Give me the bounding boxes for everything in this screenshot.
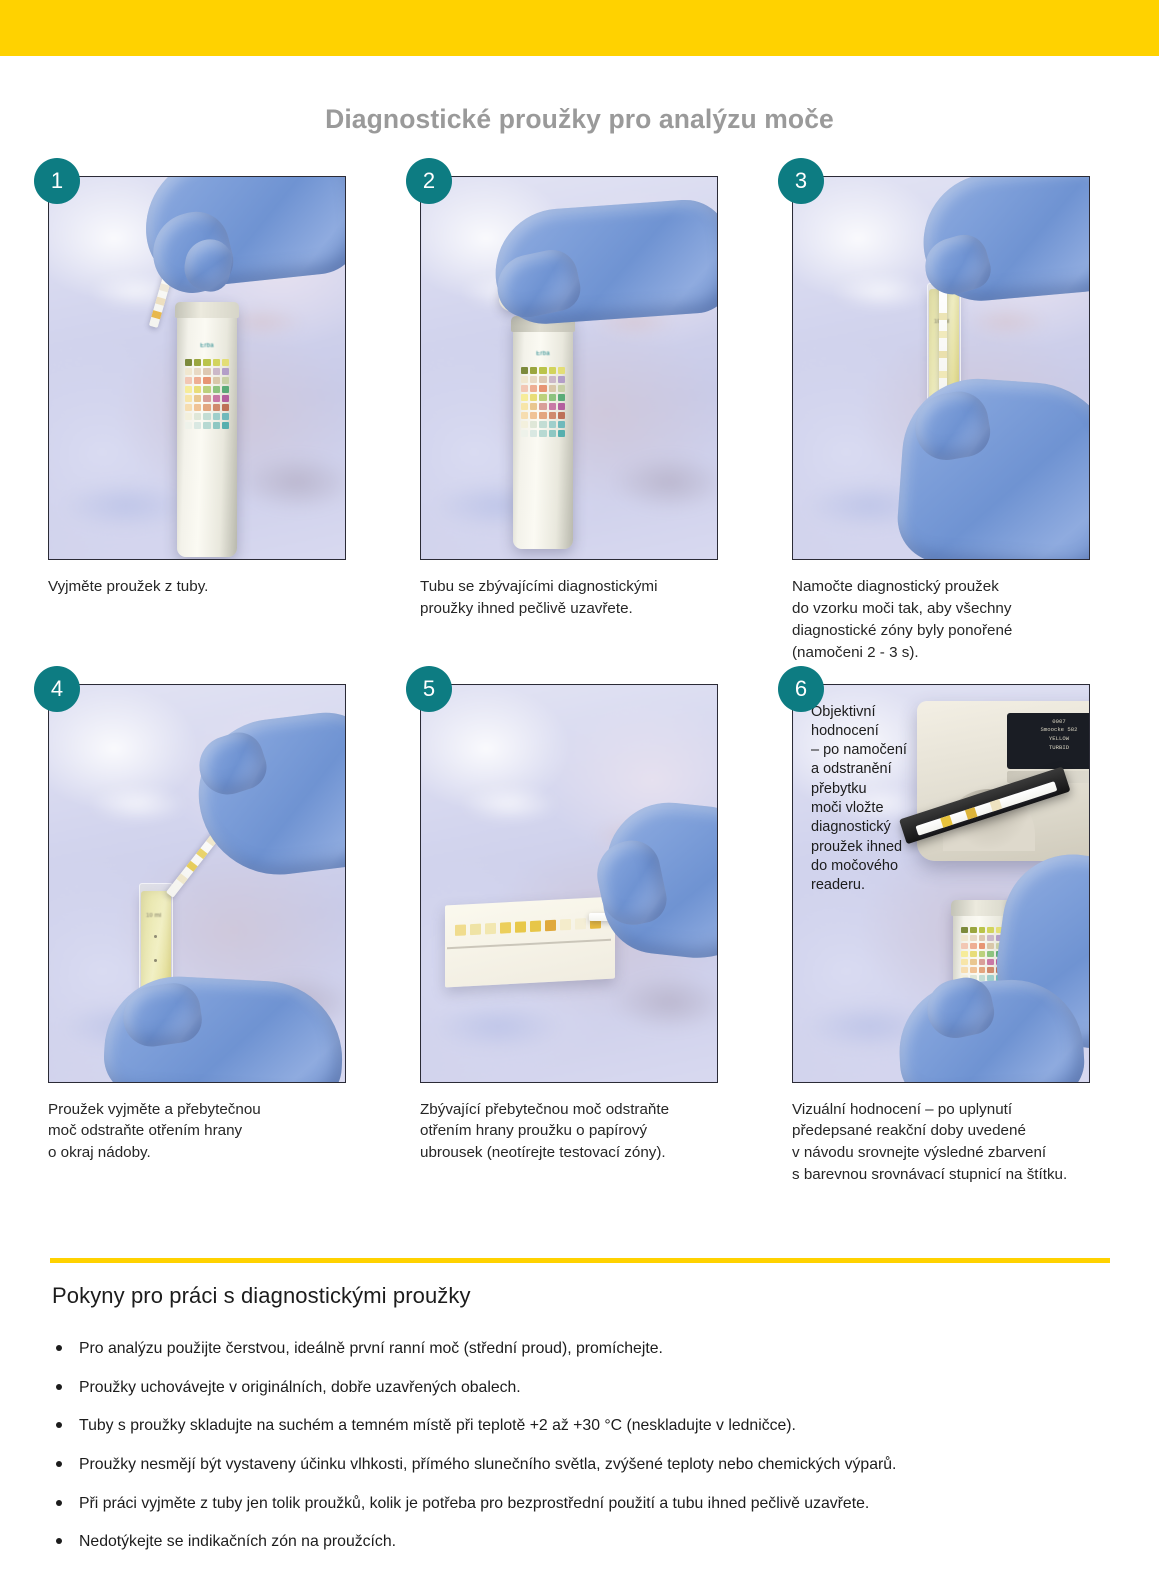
step-caption-1: Vyjměte proužek z tuby.	[48, 576, 358, 598]
reader-screen: 0007 Smoocke 582 YELLOW TURBID	[1007, 713, 1090, 769]
list-item-text: Pro analýzu použijte čerstvou, ideálně p…	[79, 1340, 663, 1357]
step-number-badge-3: 3	[778, 158, 824, 204]
step-caption-3: Namočte diagnostický proužek do vzorku m…	[792, 576, 1102, 664]
instructions-heading: Pokyny pro práci s diagnostickými proužk…	[52, 1283, 1122, 1309]
top-yellow-band	[0, 0, 1159, 56]
step-3: 3 10 ml	[792, 176, 1102, 664]
step-caption-4: Proužek vyjměte a přebytečnou moč odstra…	[48, 1099, 358, 1165]
document-page: Diagnostické proužky pro analýzu moče 1 …	[0, 0, 1159, 1591]
step-photo-5	[420, 684, 718, 1083]
bullet-icon	[56, 1461, 62, 1467]
yellow-divider	[50, 1258, 1110, 1263]
instructions-section: Pokyny pro práci s diagnostickými proužk…	[52, 1283, 1122, 1569]
strip-pad	[939, 371, 947, 378]
step-1: 1 Erba	[48, 176, 358, 664]
strip-pad	[151, 310, 162, 319]
strip-tube: Erba	[177, 303, 237, 557]
step-photo-4: 10 ml	[48, 684, 346, 1083]
list-item-text: Proužky uchovávejte v originálních, dobř…	[79, 1379, 521, 1396]
step-caption-2: Tubu se zbývajícími diagnostickými prouž…	[420, 576, 730, 620]
color-comparison-chart	[185, 359, 229, 429]
list-item: Tuby s proužky skladujte na suchém a tem…	[52, 1414, 1122, 1438]
reader-screen-line-4: TURBID	[1013, 744, 1090, 753]
step-caption-5: Zbývající přebytečnou moč odstraňte otře…	[420, 1099, 730, 1165]
step-2: 2 Erba	[420, 176, 730, 664]
list-item: Proužky nesmějí být vystaveny účinku vlh…	[52, 1453, 1122, 1477]
step-number-badge-2: 2	[406, 158, 452, 204]
reader-screen-line-1: 0007	[1013, 718, 1090, 727]
step-caption-6: Vizuální hodnocení – po uplynutí předeps…	[792, 1099, 1102, 1187]
tube-brand-label: Erba	[536, 351, 550, 357]
bullet-icon	[56, 1500, 62, 1506]
step-number-badge-1: 1	[34, 158, 80, 204]
step-photo-3: 10 ml	[792, 176, 1090, 560]
instructions-list: Pro analýzu použijte čerstvou, ideálně p…	[52, 1337, 1122, 1554]
reader-screen-line-3: YELLOW	[1013, 735, 1090, 744]
list-item: Pro analýzu použijte čerstvou, ideálně p…	[52, 1337, 1122, 1361]
steps-grid: 1 Erba	[48, 176, 1113, 1186]
strip-pad	[939, 313, 947, 320]
step-4: 4 10 ml	[48, 684, 358, 1187]
list-item-text: Tuby s proužky skladujte na suchém a tem…	[79, 1417, 796, 1434]
color-comparison-chart	[521, 367, 565, 437]
bullet-icon	[56, 1422, 62, 1428]
reader-screen-line-2: Smoocke 582	[1013, 726, 1090, 735]
step-5: 5	[420, 684, 730, 1187]
bullet-icon	[56, 1345, 62, 1351]
gloved-hand-lower	[895, 374, 1090, 560]
strip-tube: Erba	[513, 317, 573, 549]
list-item: Při práci vyjměte z tuby jen tolik prouž…	[52, 1492, 1122, 1516]
strip-pad	[939, 351, 947, 358]
list-item-text: Proužky nesmějí být vystaveny účinku vlh…	[79, 1456, 896, 1473]
bullet-icon	[56, 1384, 62, 1390]
step-number-badge-5: 5	[406, 666, 452, 712]
step-photo-1: Erba	[48, 176, 346, 560]
list-item-text: Nedotýkejte se indikačních zón na proužc…	[79, 1533, 396, 1550]
list-item-text: Při práci vyjměte z tuby jen tolik prouž…	[79, 1495, 869, 1512]
step-number-badge-4: 4	[34, 666, 80, 712]
page-title: Diagnostické proužky pro analýzu moče	[0, 104, 1159, 135]
step-photo-2: Erba	[420, 176, 718, 560]
bullet-icon	[56, 1538, 62, 1544]
tube-brand-label: Erba	[200, 343, 214, 349]
step-6-overlay-text: Objektivní hodnocení – po namočení a ods…	[811, 703, 929, 896]
tube-cap	[175, 302, 239, 318]
step-6: 6 0007 Smoocke 582 YELLOW TURBID	[792, 684, 1102, 1187]
strip-pad	[155, 297, 166, 306]
step-number-badge-6: 6	[778, 666, 824, 712]
list-item: Nedotýkejte se indikačních zón na proužc…	[52, 1530, 1122, 1554]
list-item: Proužky uchovávejte v originálních, dobř…	[52, 1376, 1122, 1400]
strip-pad	[939, 331, 947, 338]
step-photo-6: 0007 Smoocke 582 YELLOW TURBID	[792, 684, 1090, 1083]
